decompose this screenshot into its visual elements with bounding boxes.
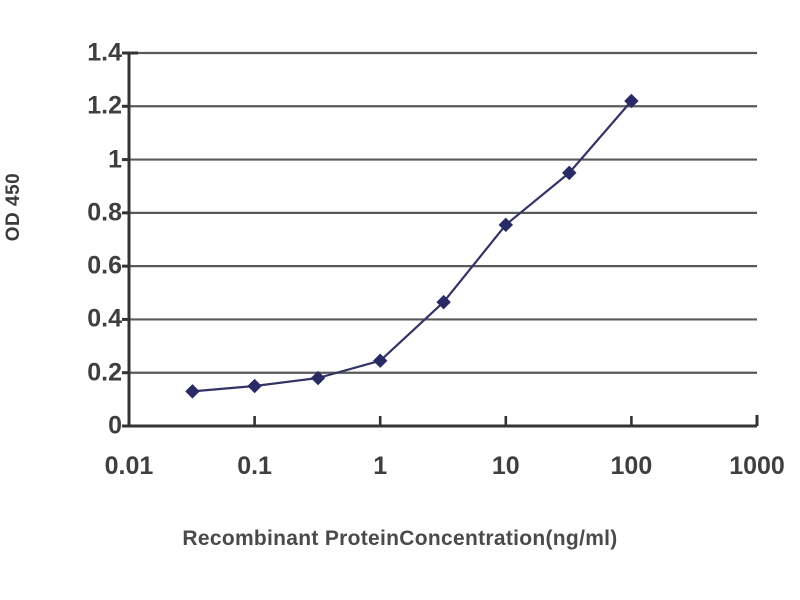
x-axis-tick-label: 10: [436, 452, 576, 481]
x-axis-tick-label: 0.01: [59, 452, 199, 481]
x-axis-title: Recombinant ProteinConcentration(ng/ml): [0, 527, 800, 551]
plot-background: [129, 53, 757, 426]
plot-area: [0, 0, 800, 600]
x-axis-tick-label: 1000: [687, 452, 800, 481]
x-axis-tick-labels: 0.010.11101001000: [0, 452, 800, 492]
x-axis-tick-label: 100: [561, 452, 701, 481]
x-axis-tick-label: 0.1: [185, 452, 325, 481]
chart-canvas: OD 450 00.20.40.60.811.21.4 0.010.111010…: [0, 0, 800, 600]
x-axis-tick-label: 1: [310, 452, 450, 481]
